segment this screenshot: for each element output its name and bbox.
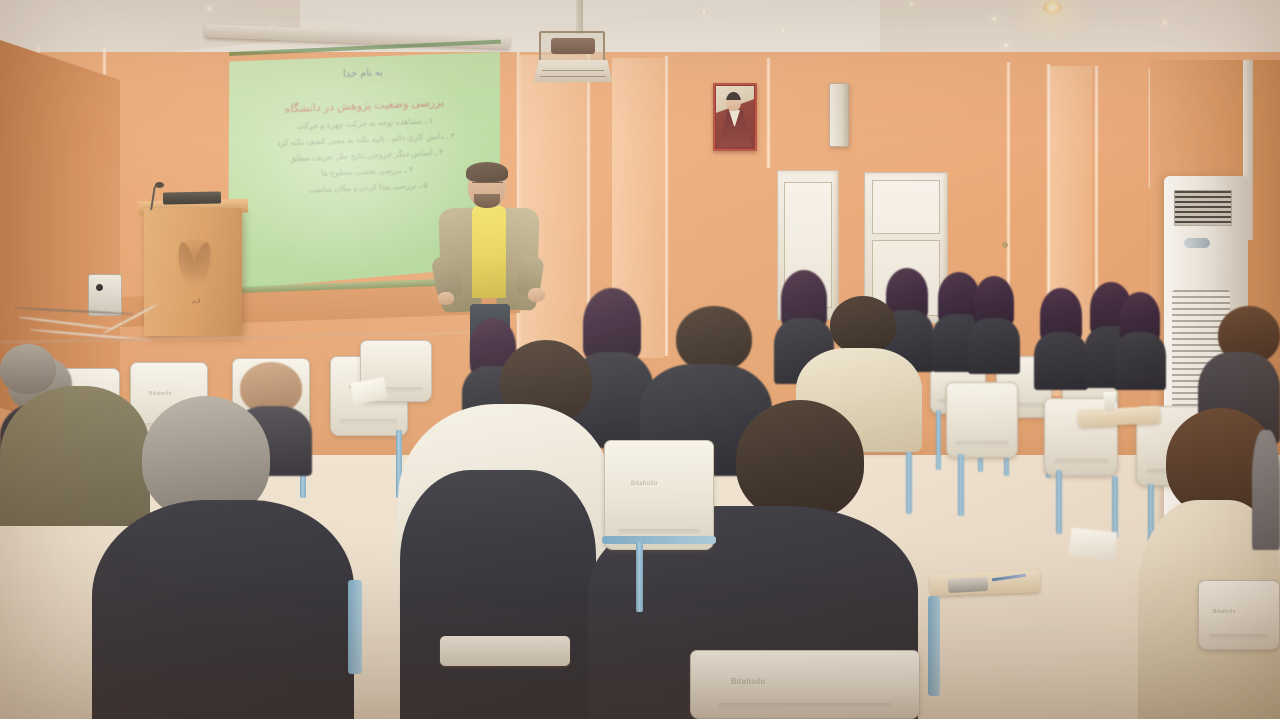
presenter-hand-right bbox=[528, 288, 545, 302]
chair-front-2[interactable]: Bitahoilo bbox=[690, 650, 920, 719]
projector-cage-bar-1 bbox=[542, 70, 604, 71]
mobile-phone[interactable] bbox=[948, 577, 989, 593]
wall-seam-4 bbox=[766, 58, 771, 168]
chair-front-1[interactable]: Bitahoilo bbox=[604, 440, 714, 550]
emblem-wing-right bbox=[191, 241, 214, 283]
chair-right-leg-2 bbox=[958, 454, 964, 516]
downlight-8 bbox=[908, 2, 915, 6]
slide-heading: بررسی وضعیت پژوهش در دانشگاه bbox=[238, 94, 490, 118]
lectern-control-panel bbox=[163, 191, 221, 204]
attendee-far-right-edge bbox=[1252, 430, 1280, 550]
ceiling-projector bbox=[551, 38, 595, 54]
downlight-1 bbox=[205, 6, 214, 11]
downlight-5 bbox=[990, 16, 999, 21]
lectern-emblem bbox=[175, 240, 215, 288]
chair-right-2[interactable] bbox=[946, 382, 1018, 458]
wall-mounted-speaker bbox=[829, 83, 849, 147]
chair-right-leg-4 bbox=[1112, 476, 1118, 538]
lectern-engraved-text: قم bbox=[183, 296, 209, 308]
attendee-foreground-black-head bbox=[736, 400, 864, 520]
chair-right-leg-3 bbox=[1056, 470, 1062, 534]
presenter-glasses bbox=[472, 182, 503, 187]
chair-frame-foreground bbox=[348, 580, 362, 674]
projector-mount-pole bbox=[576, 0, 583, 34]
downlight-lit bbox=[1043, 1, 1062, 14]
door-knob[interactable] bbox=[1002, 242, 1008, 248]
chair-front-1-leg bbox=[636, 542, 643, 612]
presenter-shirt bbox=[472, 206, 506, 298]
chair-brand-text-5: Bitahoilo bbox=[631, 481, 658, 487]
presenter-hand-left bbox=[438, 292, 454, 305]
paper-sheet-2[interactable] bbox=[1069, 528, 1118, 561]
attendee-center-dark-suit bbox=[676, 306, 752, 372]
microphone-head bbox=[155, 182, 164, 188]
downlight-6 bbox=[1160, 20, 1169, 25]
attendee-foreground-gray-body bbox=[92, 500, 354, 719]
downlight-3 bbox=[700, 10, 708, 15]
chair-brand-text-6: Bitahoilo bbox=[731, 677, 765, 686]
ac-brand-badge bbox=[1184, 238, 1210, 248]
presenter-beard bbox=[474, 194, 500, 208]
attendee-center-black-coat bbox=[400, 470, 596, 719]
attendee-woman-hijab-7-body bbox=[1114, 332, 1166, 390]
portrait-face bbox=[726, 92, 741, 111]
attendee-front-left-olive-head bbox=[0, 344, 56, 394]
downlight-7 bbox=[1002, 43, 1010, 48]
chair-rear-leg-1 bbox=[936, 410, 941, 470]
attendee-woman-hijab-5-body bbox=[1034, 332, 1088, 390]
projector-cage-bar-2 bbox=[540, 76, 606, 77]
chair-front-1-frame bbox=[602, 536, 716, 544]
wall-seam-3 bbox=[664, 56, 669, 356]
seminar-hall-photograph: به نام خدا بررسی وضعیت پژوهش در دانشگاه … bbox=[0, 0, 1280, 719]
chair-brand-text-2: Bitahoilo bbox=[149, 391, 172, 397]
ac-vent-grille-top bbox=[1174, 190, 1232, 226]
chair-frame-foreground-2 bbox=[928, 596, 940, 696]
chair-right-leg-1 bbox=[906, 450, 912, 514]
equipment-indicator bbox=[96, 284, 103, 291]
downlight-4 bbox=[780, 28, 787, 32]
projector-base-plate bbox=[534, 60, 612, 82]
slide-title: به نام خدا bbox=[237, 63, 489, 85]
chair-front-3[interactable]: Bitahoilo bbox=[1198, 580, 1280, 650]
attendee-woman-center-front bbox=[583, 288, 641, 360]
presenter-hair bbox=[466, 162, 508, 182]
chair-brand-text-7: Bitahoilo bbox=[1213, 609, 1236, 615]
attendee-front-left-olive bbox=[0, 386, 150, 526]
attendee-center-navy-suit bbox=[830, 296, 896, 354]
attendee-woman-hijab-4-body bbox=[968, 318, 1020, 374]
av-equipment-box bbox=[88, 274, 122, 316]
chair-seat-foreground[interactable] bbox=[440, 636, 570, 666]
back-door-right-panel-top bbox=[872, 180, 940, 234]
